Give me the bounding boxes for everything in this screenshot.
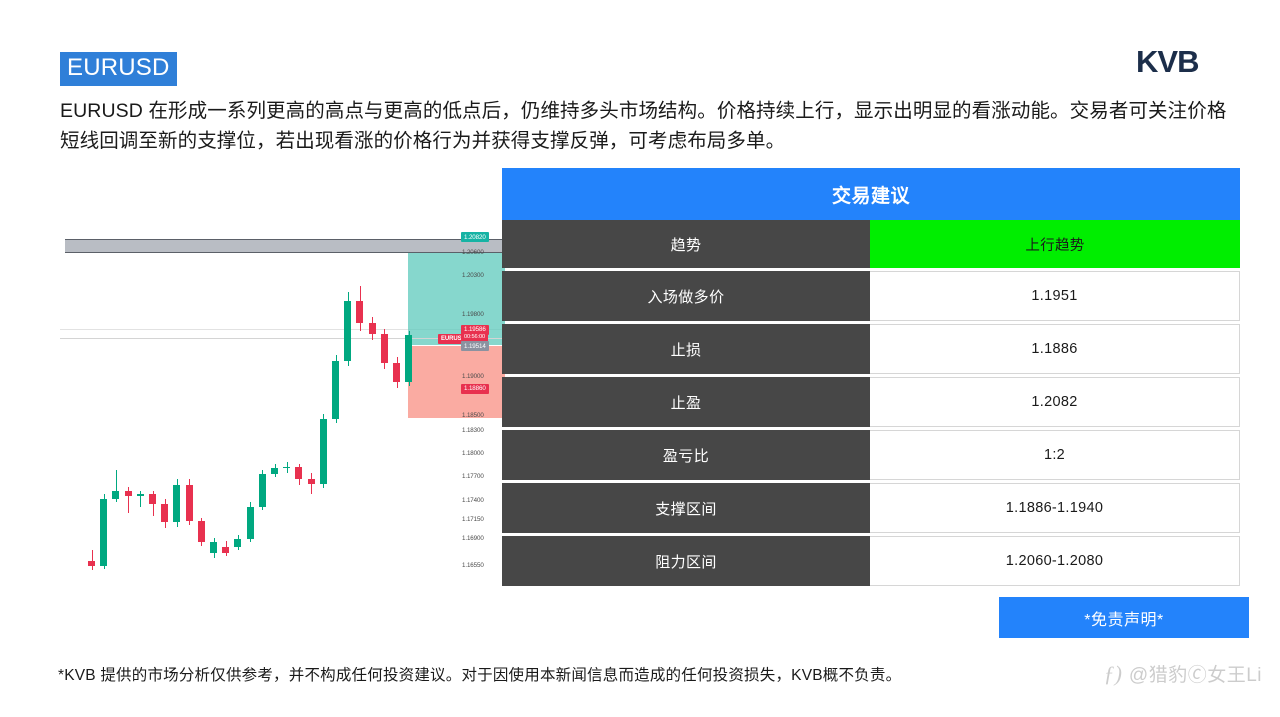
chart-plot-area[interactable]: EURUSD [60, 230, 505, 578]
row-label: 入场做多价 [502, 271, 870, 321]
candle-body [186, 485, 193, 521]
candle-body [393, 363, 400, 382]
svg-text:KVB: KVB [1136, 45, 1198, 79]
footer-disclaimer: *KVB 提供的市场分析仅供参考，并不构成任何投资建议。对于因使用本新闻信息而造… [58, 663, 901, 685]
candle-wick [311, 473, 312, 495]
axis-tick-label: 1.16550 [462, 562, 484, 569]
candle-body [137, 494, 144, 496]
page-title: EURUSD [60, 52, 177, 86]
candle-body [161, 504, 168, 523]
resistance-band [65, 239, 505, 253]
candle-body [405, 335, 412, 381]
axis-tick-label: 1.20600 [462, 249, 484, 256]
market-summary-text: EURUSD 在形成一系列更高的高点与更高的低点后，仍维持多头市场结构。价格持续… [60, 96, 1240, 156]
candle-body [112, 491, 119, 499]
axis-tick-label: 1.19000 [462, 373, 484, 380]
candle-body [356, 301, 363, 323]
row-label: 止盈 [502, 377, 870, 427]
table-row: 盈亏比1:2 [502, 430, 1240, 480]
candle-body [198, 521, 205, 543]
candle-body [283, 467, 290, 469]
candle-body [332, 361, 339, 418]
candlestick-chart[interactable]: EURUSD [60, 230, 505, 578]
table-row: 入场做多价1.1951 [502, 271, 1240, 321]
candle-body [369, 323, 376, 334]
candle-body [247, 507, 254, 539]
candle-body [88, 561, 95, 566]
candle-body [173, 485, 180, 522]
watermark-handle: @猎豹🄫女王Li [1129, 660, 1262, 687]
table-row: 趋势上行趋势 [502, 220, 1240, 268]
row-value: 1.1886-1.1940 [870, 483, 1240, 533]
row-value: 1.1886 [870, 324, 1240, 374]
candle-body [344, 301, 351, 361]
candle-body [295, 467, 302, 479]
table-row: 支撑区间1.1886-1.1940 [502, 483, 1240, 533]
axis-tick-label: 1.18300 [462, 427, 484, 434]
row-value: 1.2060-1.2080 [870, 536, 1240, 586]
axis-price-badge: 1.18860 [461, 384, 489, 394]
table-header: 交易建议 [502, 168, 1240, 220]
candle-body [271, 468, 278, 474]
candle-body [381, 334, 388, 363]
candle-body [308, 479, 315, 484]
axis-tick-label: 1.17150 [462, 516, 484, 523]
table-row: 止损1.1886 [502, 324, 1240, 374]
disclaimer-button[interactable]: *免责声明* [999, 597, 1249, 638]
watermark-logo-icon: ƒ) [1104, 661, 1122, 687]
row-label: 盈亏比 [502, 430, 870, 480]
axis-tick-label: 1.18500 [462, 412, 484, 419]
candle-body [100, 499, 107, 566]
row-label: 止损 [502, 324, 870, 374]
candle-body [149, 494, 156, 503]
axis-tick-label: 1.19800 [462, 311, 484, 318]
candle-body [234, 539, 241, 547]
axis-tick-label: 1.16900 [462, 535, 484, 542]
candle-body [259, 474, 266, 506]
trade-recommendation-table: 交易建议 趋势上行趋势入场做多价1.1951止损1.1886止盈1.2082盈亏… [502, 168, 1240, 586]
candle-body [125, 491, 132, 496]
axis-tick-label: 1.17400 [462, 497, 484, 504]
row-value: 上行趋势 [870, 220, 1240, 268]
axis-tick-label: 1.17700 [462, 473, 484, 480]
row-label: 阻力区间 [502, 536, 870, 586]
table-row: 阻力区间1.2060-1.2080 [502, 536, 1240, 586]
row-value: 1.1951 [870, 271, 1240, 321]
row-label: 支撑区间 [502, 483, 870, 533]
slide-root: EURUSD KVB EURUSD 在形成一系列更高的高点与更高的低点后，仍维持… [0, 0, 1280, 717]
axis-tick-label: 1.20300 [462, 272, 484, 279]
candle-body [210, 542, 217, 553]
row-label: 趋势 [502, 220, 870, 268]
row-value: 1.2082 [870, 377, 1240, 427]
kvb-logo: KVB [1136, 45, 1246, 79]
candle-body [320, 419, 327, 484]
table-row: 止盈1.2082 [502, 377, 1240, 427]
candle-body [222, 547, 229, 553]
table-body: 趋势上行趋势入场做多价1.1951止损1.1886止盈1.2082盈亏比1:2支… [502, 220, 1240, 586]
row-value: 1:2 [870, 430, 1240, 480]
axis-price-badge: 1.20820 [461, 232, 489, 242]
axis-tick-label: 1.18000 [462, 450, 484, 457]
price-axis[interactable]: 1.206001.203001.198001.190001.185001.183… [462, 230, 506, 578]
axis-price-badge: 1.19514 [461, 341, 489, 351]
watermark: ƒ) @猎豹🄫女王Li [1104, 660, 1262, 687]
